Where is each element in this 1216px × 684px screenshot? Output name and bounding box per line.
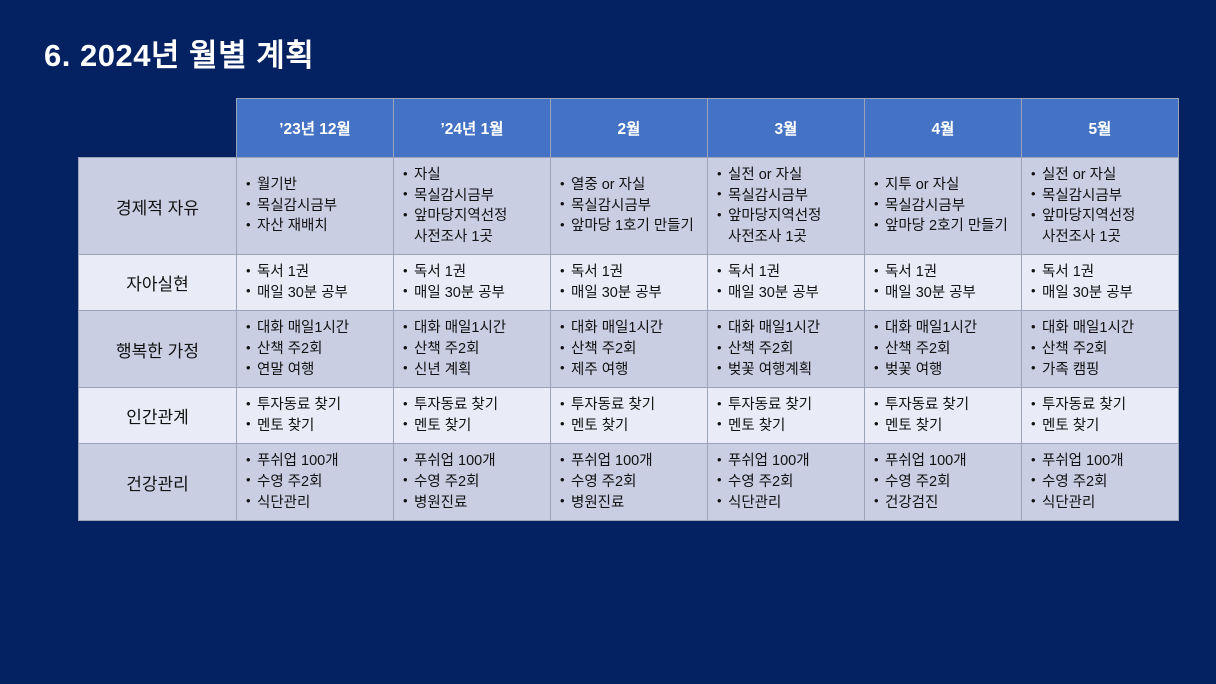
plan-bullet-item: 투자동료 찾기 [874,395,1015,416]
plan-bullet-item: 목실감시금부 [560,196,701,217]
table-header: ’23년 12월’24년 1월2월3월4월5월 [79,99,1179,158]
plan-bullet-item: 독서 1권 [717,262,858,283]
plan-cell-r5-c5: 푸쉬업 100개수영 주2회건강검진 [865,444,1022,521]
column-header-month-5: 4월 [865,99,1022,158]
plan-bullet-item: 푸쉬업 100개 [1031,451,1172,472]
plan-bullet-list: 자실목실감시금부앞마당지역선정 사전조사 1곳 [403,165,544,247]
monthly-plan-table: ’23년 12월’24년 1월2월3월4월5월 경제적 자유월기반목실감시금부자… [78,98,1179,521]
plan-bullet-item: 산책 주2회 [560,339,701,360]
plan-bullet-item: 멘토 찾기 [246,416,387,437]
plan-bullet-item: 매일 30분 공부 [717,283,858,304]
plan-cell-r4-c1: 투자동료 찾기멘토 찾기 [237,388,394,444]
plan-bullet-item: 산책 주2회 [403,339,544,360]
plan-bullet-list: 투자동료 찾기멘토 찾기 [560,395,701,436]
row-label-5: 건강관리 [79,444,237,521]
plan-bullet-item: 신년 계획 [403,360,544,381]
plan-bullet-item: 매일 30분 공부 [560,283,701,304]
plan-bullet-item: 수영 주2회 [560,472,701,493]
plan-cell-r1-c5: 지투 or 자실목실감시금부앞마당 2호기 만들기 [865,158,1022,255]
plan-bullet-item: 푸쉬업 100개 [246,451,387,472]
plan-bullet-item: 독서 1권 [403,262,544,283]
plan-bullet-item: 식단관리 [246,493,387,514]
plan-bullet-list: 투자동료 찾기멘토 찾기 [1031,395,1172,436]
plan-bullet-item: 푸쉬업 100개 [874,451,1015,472]
plan-cell-r1-c1: 월기반목실감시금부자산 재배치 [237,158,394,255]
plan-bullet-list: 열중 or 자실목실감시금부앞마당 1호기 만들기 [560,175,701,237]
plan-cell-r2-c4: 독서 1권매일 30분 공부 [708,255,865,311]
plan-bullet-item: 목실감시금부 [403,186,544,207]
plan-bullet-item: 목실감시금부 [874,196,1015,217]
plan-bullet-list: 푸쉬업 100개수영 주2회병원진료 [560,451,701,513]
plan-bullet-item: 멘토 찾기 [403,416,544,437]
plan-bullet-item: 산책 주2회 [1031,339,1172,360]
plan-cell-r5-c2: 푸쉬업 100개수영 주2회병원진료 [394,444,551,521]
plan-bullet-item: 독서 1권 [1031,262,1172,283]
plan-bullet-list: 투자동료 찾기멘토 찾기 [246,395,387,436]
plan-bullet-item: 식단관리 [717,493,858,514]
plan-bullet-list: 푸쉬업 100개수영 주2회식단관리 [246,451,387,513]
row-label-1: 경제적 자유 [79,158,237,255]
plan-bullet-list: 대화 매일1시간산책 주2회제주 여행 [560,318,701,380]
plan-bullet-item: 앞마당지역선정 사전조사 1곳 [403,206,544,247]
plan-cell-r2-c1: 독서 1권매일 30분 공부 [237,255,394,311]
plan-bullet-list: 대화 매일1시간산책 주2회가족 캠핑 [1031,318,1172,380]
plan-bullet-item: 투자동료 찾기 [246,395,387,416]
column-header-month-6: 5월 [1022,99,1179,158]
plan-bullet-list: 대화 매일1시간산책 주2회연말 여행 [246,318,387,380]
plan-cell-r5-c1: 푸쉬업 100개수영 주2회식단관리 [237,444,394,521]
column-header-month-2: ’24년 1월 [394,99,551,158]
plan-cell-r4-c2: 투자동료 찾기멘토 찾기 [394,388,551,444]
plan-bullet-item: 멘토 찾기 [560,416,701,437]
plan-bullet-list: 독서 1권매일 30분 공부 [403,262,544,303]
plan-bullet-item: 식단관리 [1031,493,1172,514]
plan-cell-r2-c3: 독서 1권매일 30분 공부 [551,255,708,311]
plan-bullet-item: 독서 1권 [246,262,387,283]
plan-bullet-item: 대화 매일1시간 [874,318,1015,339]
plan-bullet-list: 독서 1권매일 30분 공부 [246,262,387,303]
plan-cell-r1-c3: 열중 or 자실목실감시금부앞마당 1호기 만들기 [551,158,708,255]
plan-bullet-list: 독서 1권매일 30분 공부 [717,262,858,303]
plan-bullet-list: 푸쉬업 100개수영 주2회식단관리 [717,451,858,513]
plan-bullet-list: 실전 or 자실목실감시금부앞마당지역선정 사전조사 1곳 [1031,165,1172,247]
page-title: 6. 2024년 월별 계획 [44,30,314,75]
plan-cell-r4-c5: 투자동료 찾기멘토 찾기 [865,388,1022,444]
plan-cell-r3-c6: 대화 매일1시간산책 주2회가족 캠핑 [1022,311,1179,388]
plan-bullet-list: 푸쉬업 100개수영 주2회병원진료 [403,451,544,513]
plan-cell-r4-c3: 투자동료 찾기멘토 찾기 [551,388,708,444]
plan-bullet-item: 목실감시금부 [1031,186,1172,207]
plan-bullet-item: 수영 주2회 [246,472,387,493]
plan-bullet-item: 푸쉬업 100개 [403,451,544,472]
plan-bullet-list: 독서 1권매일 30분 공부 [874,262,1015,303]
plan-bullet-item: 독서 1권 [560,262,701,283]
plan-cell-r2-c2: 독서 1권매일 30분 공부 [394,255,551,311]
plan-cell-r3-c3: 대화 매일1시간산책 주2회제주 여행 [551,311,708,388]
plan-bullet-item: 앞마당지역선정 사전조사 1곳 [717,206,858,247]
plan-bullet-item: 병원진료 [560,493,701,514]
table-corner-cell [79,99,237,158]
plan-bullet-item: 수영 주2회 [874,472,1015,493]
plan-bullet-list: 대화 매일1시간산책 주2회벚꽃 여행계획 [717,318,858,380]
plan-bullet-item: 매일 30분 공부 [1031,283,1172,304]
plan-bullet-item: 대화 매일1시간 [560,318,701,339]
plan-bullet-item: 매일 30분 공부 [246,283,387,304]
plan-cell-r3-c1: 대화 매일1시간산책 주2회연말 여행 [237,311,394,388]
plan-bullet-item: 산책 주2회 [246,339,387,360]
plan-bullet-list: 투자동료 찾기멘토 찾기 [717,395,858,436]
plan-bullet-item: 목실감시금부 [246,196,387,217]
plan-bullet-item: 투자동료 찾기 [560,395,701,416]
plan-bullet-item: 수영 주2회 [717,472,858,493]
table-row: 자아실현독서 1권매일 30분 공부독서 1권매일 30분 공부독서 1권매일 … [79,255,1179,311]
plan-bullet-item: 푸쉬업 100개 [717,451,858,472]
table-row: 경제적 자유월기반목실감시금부자산 재배치자실목실감시금부앞마당지역선정 사전조… [79,158,1179,255]
plan-bullet-item: 자실 [403,165,544,186]
plan-bullet-item: 제주 여행 [560,360,701,381]
plan-bullet-item: 독서 1권 [874,262,1015,283]
plan-bullet-item: 벚꽃 여행 [874,360,1015,381]
column-header-month-3: 2월 [551,99,708,158]
plan-bullet-list: 푸쉬업 100개수영 주2회식단관리 [1031,451,1172,513]
plan-bullet-item: 대화 매일1시간 [246,318,387,339]
plan-bullet-item: 멘토 찾기 [1031,416,1172,437]
plan-bullet-item: 산책 주2회 [717,339,858,360]
plan-bullet-list: 월기반목실감시금부자산 재배치 [246,175,387,237]
plan-bullet-item: 병원진료 [403,493,544,514]
plan-bullet-item: 대화 매일1시간 [1031,318,1172,339]
plan-bullet-item: 월기반 [246,175,387,196]
plan-bullet-item: 실전 or 자실 [1031,165,1172,186]
plan-cell-r5-c6: 푸쉬업 100개수영 주2회식단관리 [1022,444,1179,521]
plan-bullet-item: 벚꽃 여행계획 [717,360,858,381]
plan-bullet-item: 실전 or 자실 [717,165,858,186]
plan-bullet-list: 독서 1권매일 30분 공부 [560,262,701,303]
plan-cell-r2-c5: 독서 1권매일 30분 공부 [865,255,1022,311]
plan-bullet-item: 투자동료 찾기 [1031,395,1172,416]
plan-cell-r1-c4: 실전 or 자실목실감시금부앞마당지역선정 사전조사 1곳 [708,158,865,255]
plan-bullet-item: 푸쉬업 100개 [560,451,701,472]
table-row: 행복한 가정대화 매일1시간산책 주2회연말 여행대화 매일1시간산책 주2회신… [79,311,1179,388]
plan-bullet-item: 수영 주2회 [403,472,544,493]
plan-bullet-item: 가족 캠핑 [1031,360,1172,381]
plan-cell-r4-c6: 투자동료 찾기멘토 찾기 [1022,388,1179,444]
plan-bullet-list: 실전 or 자실목실감시금부앞마당지역선정 사전조사 1곳 [717,165,858,247]
plan-bullet-item: 수영 주2회 [1031,472,1172,493]
plan-bullet-item: 목실감시금부 [717,186,858,207]
table-body: 경제적 자유월기반목실감시금부자산 재배치자실목실감시금부앞마당지역선정 사전조… [79,158,1179,521]
plan-bullet-list: 투자동료 찾기멘토 찾기 [403,395,544,436]
plan-bullet-item: 열중 or 자실 [560,175,701,196]
table-header-row: ’23년 12월’24년 1월2월3월4월5월 [79,99,1179,158]
plan-bullet-item: 앞마당 2호기 만들기 [874,216,1015,237]
plan-bullet-item: 연말 여행 [246,360,387,381]
row-label-3: 행복한 가정 [79,311,237,388]
plan-bullet-list: 지투 or 자실목실감시금부앞마당 2호기 만들기 [874,175,1015,237]
plan-cell-r5-c3: 푸쉬업 100개수영 주2회병원진료 [551,444,708,521]
row-label-4: 인간관계 [79,388,237,444]
plan-bullet-item: 매일 30분 공부 [403,283,544,304]
plan-bullet-list: 투자동료 찾기멘토 찾기 [874,395,1015,436]
plan-bullet-item: 앞마당 1호기 만들기 [560,216,701,237]
plan-bullet-list: 대화 매일1시간산책 주2회벚꽃 여행 [874,318,1015,380]
plan-cell-r4-c4: 투자동료 찾기멘토 찾기 [708,388,865,444]
plan-bullet-list: 푸쉬업 100개수영 주2회건강검진 [874,451,1015,513]
plan-bullet-item: 투자동료 찾기 [717,395,858,416]
plan-cell-r1-c2: 자실목실감시금부앞마당지역선정 사전조사 1곳 [394,158,551,255]
plan-bullet-list: 대화 매일1시간산책 주2회신년 계획 [403,318,544,380]
plan-bullet-item: 건강검진 [874,493,1015,514]
column-header-month-4: 3월 [708,99,865,158]
plan-cell-r2-c6: 독서 1권매일 30분 공부 [1022,255,1179,311]
plan-bullet-item: 대화 매일1시간 [717,318,858,339]
plan-bullet-item: 산책 주2회 [874,339,1015,360]
table-row: 건강관리푸쉬업 100개수영 주2회식단관리푸쉬업 100개수영 주2회병원진료… [79,444,1179,521]
plan-cell-r3-c2: 대화 매일1시간산책 주2회신년 계획 [394,311,551,388]
plan-bullet-item: 자산 재배치 [246,216,387,237]
plan-bullet-item: 지투 or 자실 [874,175,1015,196]
plan-bullet-item: 멘토 찾기 [874,416,1015,437]
column-header-month-1: ’23년 12월 [237,99,394,158]
table-row: 인간관계투자동료 찾기멘토 찾기투자동료 찾기멘토 찾기투자동료 찾기멘토 찾기… [79,388,1179,444]
plan-bullet-item: 멘토 찾기 [717,416,858,437]
plan-bullet-item: 매일 30분 공부 [874,283,1015,304]
plan-bullet-list: 독서 1권매일 30분 공부 [1031,262,1172,303]
plan-cell-r1-c6: 실전 or 자실목실감시금부앞마당지역선정 사전조사 1곳 [1022,158,1179,255]
plan-cell-r5-c4: 푸쉬업 100개수영 주2회식단관리 [708,444,865,521]
plan-cell-r3-c5: 대화 매일1시간산책 주2회벚꽃 여행 [865,311,1022,388]
row-label-2: 자아실현 [79,255,237,311]
monthly-plan-table-container: ’23년 12월’24년 1월2월3월4월5월 경제적 자유월기반목실감시금부자… [78,98,1178,521]
plan-cell-r3-c4: 대화 매일1시간산책 주2회벚꽃 여행계획 [708,311,865,388]
plan-bullet-item: 앞마당지역선정 사전조사 1곳 [1031,206,1172,247]
plan-bullet-item: 투자동료 찾기 [403,395,544,416]
plan-bullet-item: 대화 매일1시간 [403,318,544,339]
